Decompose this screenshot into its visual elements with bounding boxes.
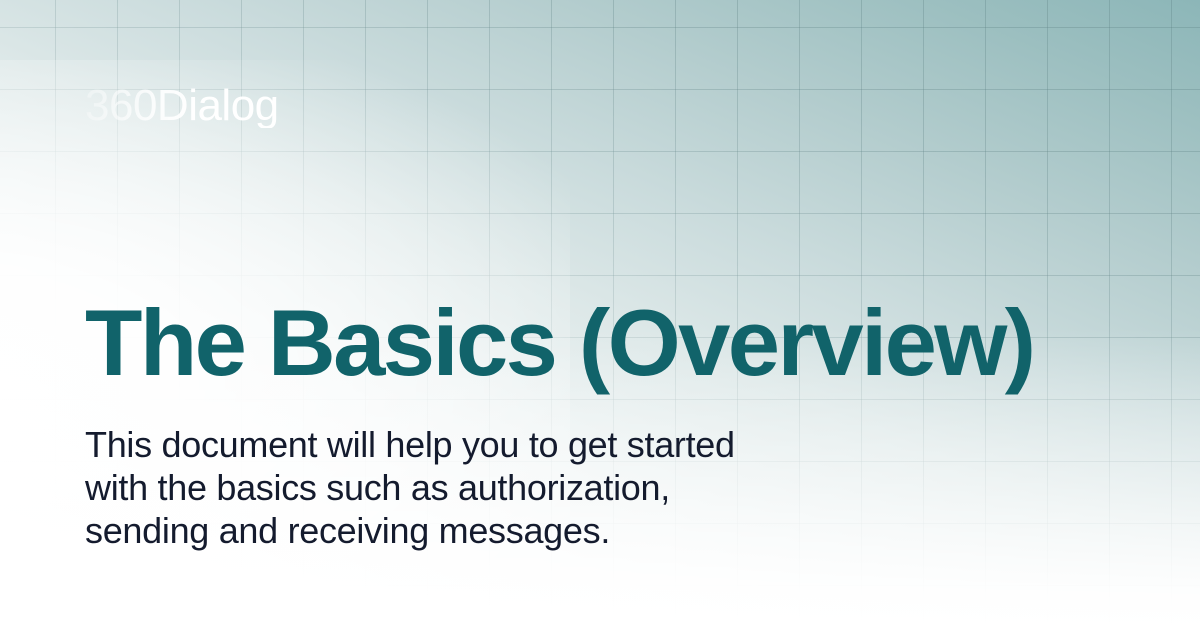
cover-text-block: The Basics (Overview) This document will… — [85, 296, 1145, 552]
subtitle-line: with the basics such as authorization, — [85, 466, 845, 509]
subtitle-line: This document will help you to get start… — [85, 423, 845, 466]
page-title: The Basics (Overview) — [85, 296, 1145, 390]
page-subtitle: This document will help you to get start… — [85, 390, 845, 552]
subtitle-line: sending and receiving messages. — [85, 509, 845, 552]
brand-logo: 360Dialog — [85, 84, 279, 128]
cover-banner: 360Dialog The Basics (Overview) This doc… — [0, 0, 1200, 630]
